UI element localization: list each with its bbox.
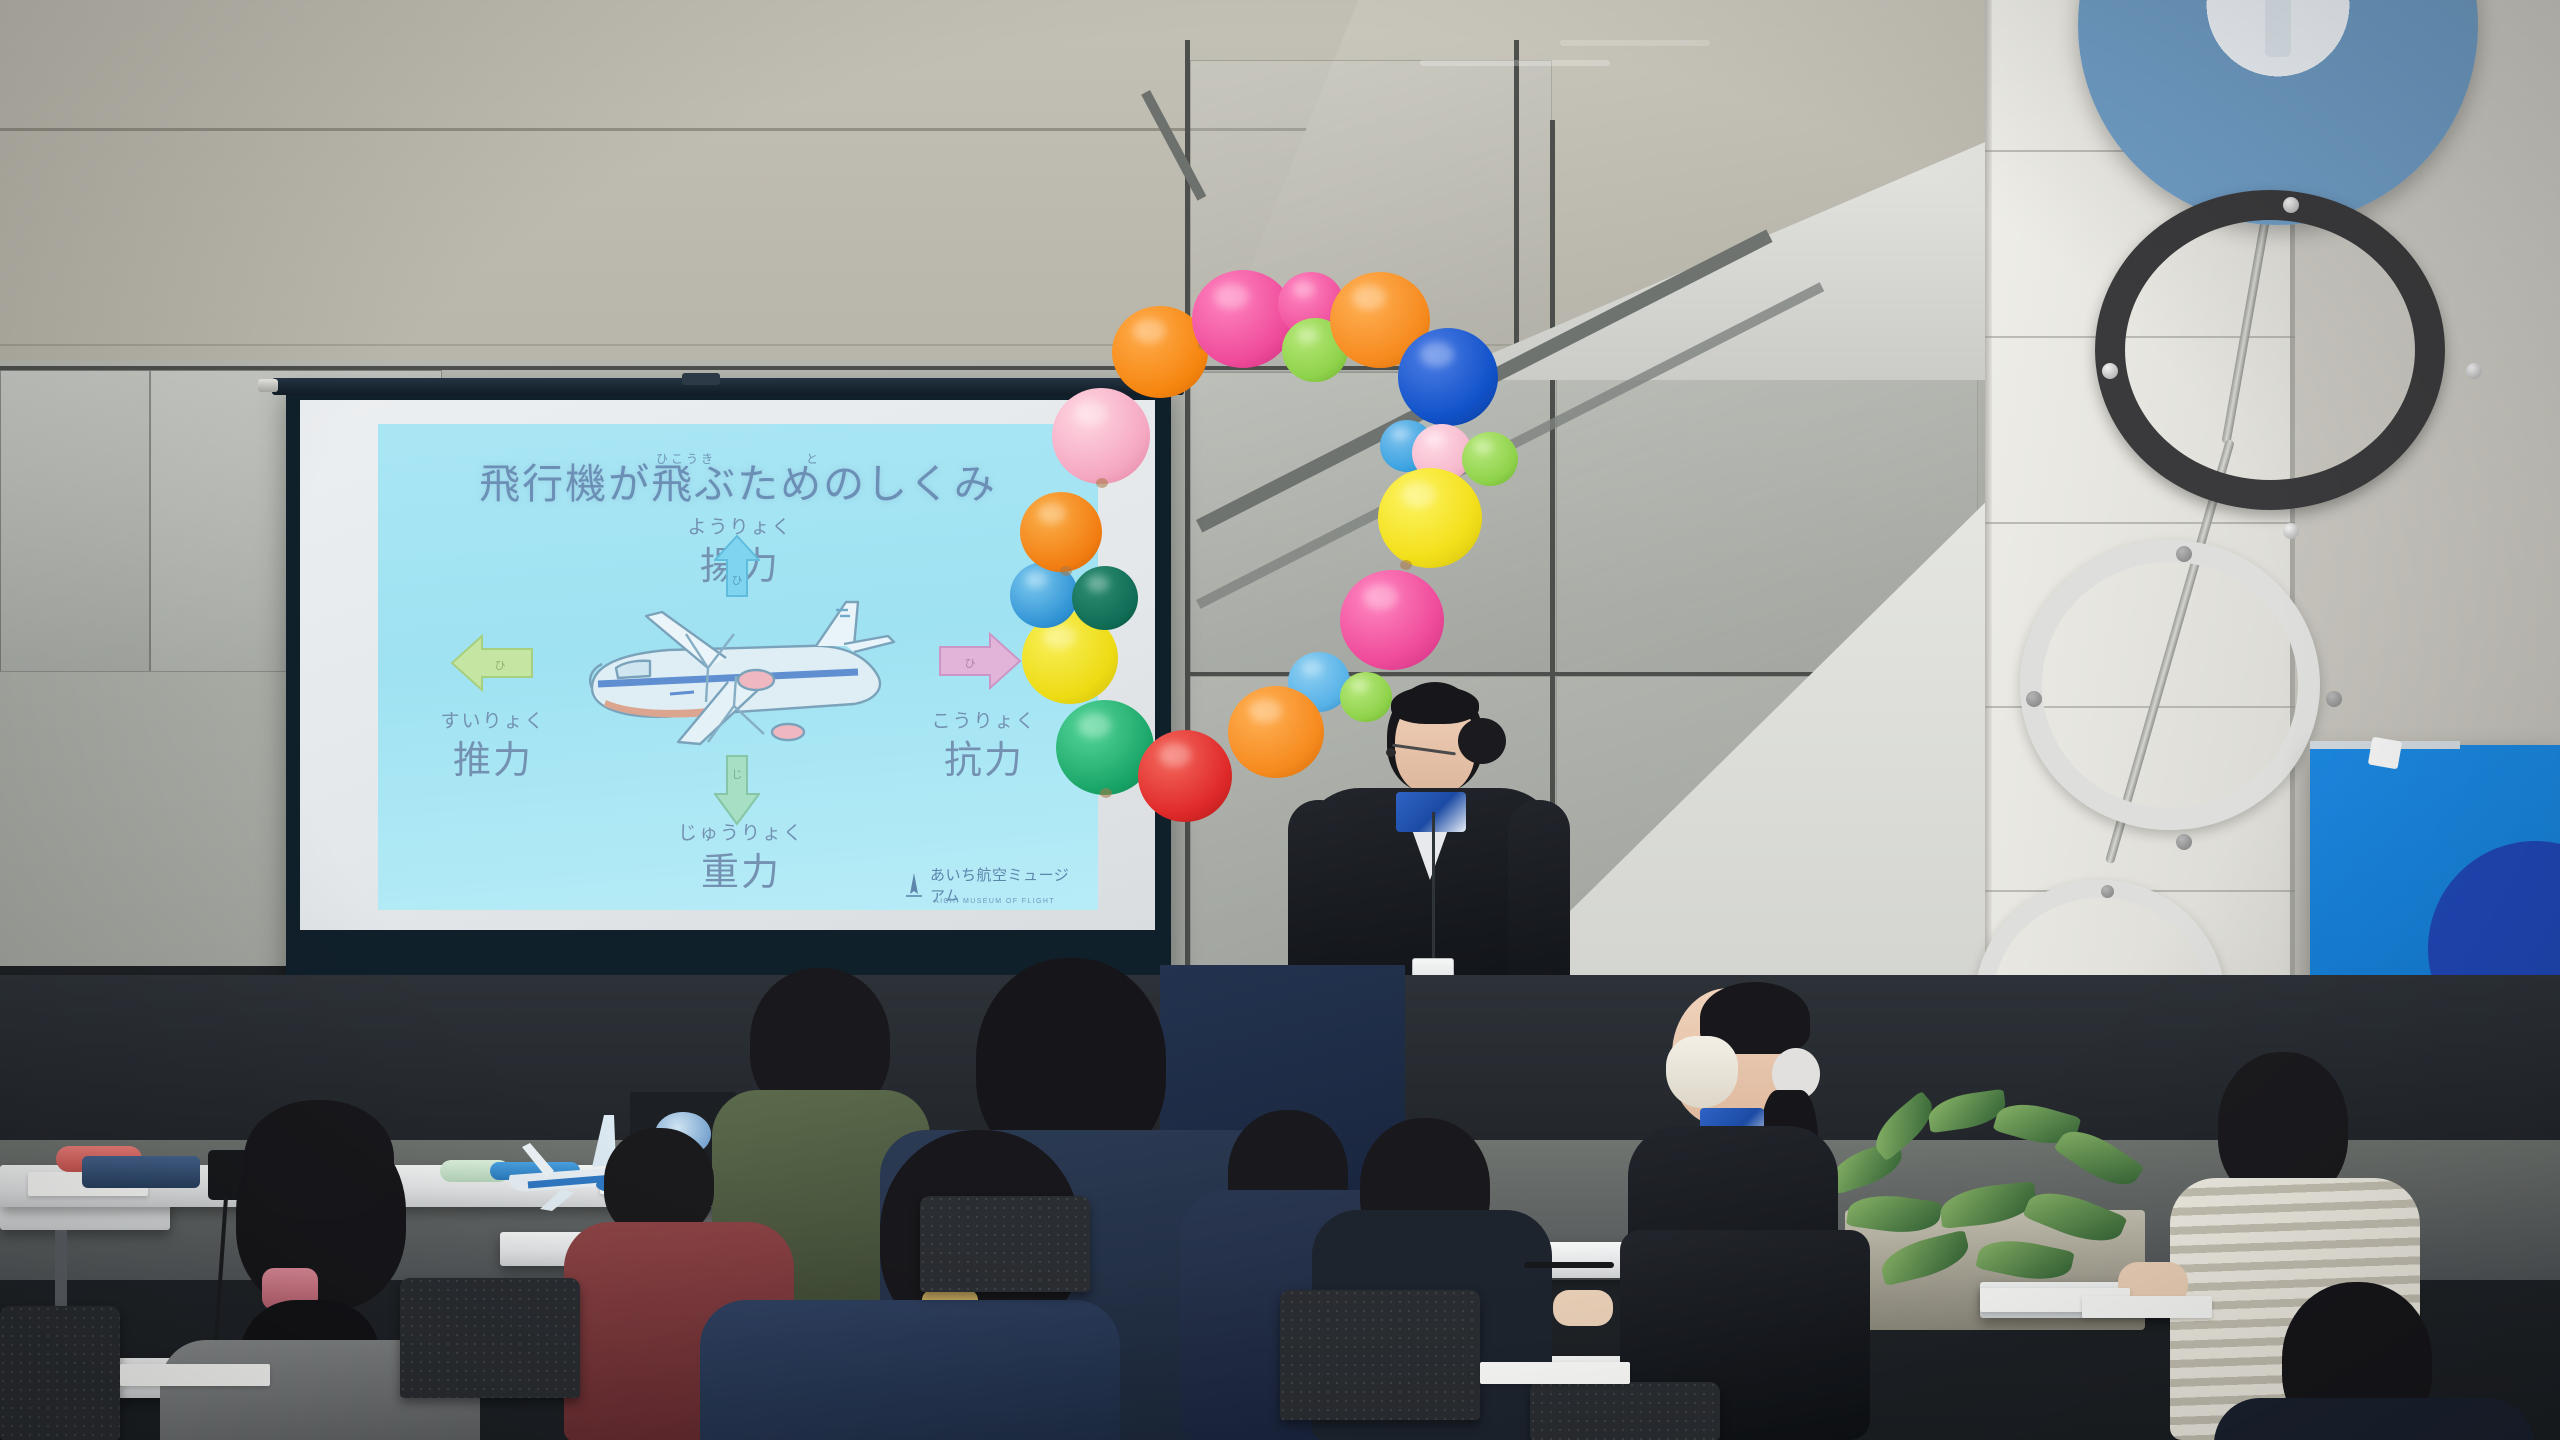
- column-seam: [1985, 522, 2295, 524]
- adult-head: [244, 1100, 394, 1220]
- force-kanji-gravity: 重力: [636, 841, 846, 896]
- child-body: [700, 1300, 1120, 1440]
- adult-body: [2214, 1398, 2534, 1440]
- ring-bolt: [2283, 523, 2299, 539]
- svg-text:ひ: ひ: [965, 658, 976, 670]
- balloon: [1462, 432, 1518, 486]
- balloon: [1378, 468, 1482, 568]
- arrow-right-icon: ひ: [938, 632, 1022, 690]
- balloon-knot: [1400, 560, 1412, 570]
- projected-slide: ひこうき と 飛行機が飛ぶためのしくみ ようりょく 揚力 ひ すいりょく 推力 …: [378, 424, 1098, 910]
- chair: [1280, 1290, 1480, 1420]
- balloon: [1138, 730, 1232, 822]
- slide-logo-subtext: AICHI MUSEUM OF FLIGHT: [934, 898, 1055, 905]
- ring-bolt: [2101, 885, 2114, 898]
- force-label-gravity: じゅうりょく 重力: [636, 818, 846, 896]
- ring-bolt: [2326, 691, 2342, 707]
- balloon: [1398, 328, 1498, 426]
- balloon-knot: [1060, 566, 1072, 576]
- balloon: [1192, 270, 1294, 368]
- dark-porthole-ring: [2095, 190, 2445, 510]
- slide-title: 飛行機が飛ぶためのしくみ: [378, 450, 1098, 510]
- table-leg: [55, 1230, 67, 1316]
- balloon: [1052, 388, 1150, 484]
- ring-bolt: [2026, 691, 2042, 707]
- plant-leaf: [1877, 1230, 1973, 1287]
- ceiling-light: [1420, 60, 1610, 66]
- ring-bolt: [2466, 363, 2482, 379]
- worksheet: [2082, 1296, 2212, 1318]
- svg-text:ひ: ひ: [495, 660, 506, 672]
- ring-bolt: [2283, 197, 2299, 213]
- balloon: [1340, 570, 1444, 670]
- ring-bolt: [2176, 546, 2192, 562]
- balloon-knot: [1100, 788, 1112, 798]
- presenter-fringe: [1391, 686, 1479, 724]
- chair: [1530, 1382, 1720, 1440]
- screen-end-cap: [258, 379, 278, 392]
- plant-leaf: [2022, 1181, 2127, 1253]
- ceiling-light: [1560, 40, 1710, 46]
- board-tape: [2368, 737, 2402, 770]
- ring-bolt: [2102, 363, 2118, 379]
- presenter-neck-scarf: [1396, 792, 1466, 832]
- ring-bolt: [2176, 834, 2192, 850]
- svg-text:じ: じ: [732, 768, 743, 781]
- arrow-left-icon: ひ: [450, 634, 534, 692]
- blue-tray: [82, 1156, 200, 1188]
- balloon: [1228, 686, 1324, 778]
- airplane-illustration: [558, 584, 918, 764]
- presenter-lanyard: [1432, 812, 1435, 962]
- projection-screen-rollbar: [272, 378, 1184, 395]
- chair: [400, 1278, 580, 1398]
- photo-scene: ひこうき と 飛行機が飛ぶためのしくみ ようりょく 揚力 ひ すいりょく 推力 …: [0, 0, 2560, 1440]
- balloon: [1072, 566, 1138, 630]
- pen: [1524, 1262, 1614, 1268]
- chair: [0, 1306, 120, 1440]
- face-mask: [1666, 1036, 1738, 1108]
- slide-museum-logo: あいち航空ミュージアム AICHI MUSEUM OF FLIGHT: [904, 868, 1084, 902]
- window-mullion: [1514, 40, 1519, 370]
- potted-plant: [1820, 1090, 2180, 1290]
- glass-panel: [0, 370, 150, 672]
- disc-hub: [2265, 0, 2291, 57]
- plant-leaf: [1846, 1190, 1942, 1238]
- balloon: [1340, 672, 1392, 722]
- plant-leaf: [1938, 1181, 2037, 1229]
- museum-logo-mark-icon: [904, 872, 924, 898]
- light-porthole-ring: [2020, 540, 2320, 830]
- worksheet: [1480, 1362, 1630, 1384]
- balloon-knot: [1096, 478, 1108, 488]
- arrow-down-icon: じ: [714, 754, 760, 826]
- balloon: [1020, 492, 1102, 572]
- headset-mic-capsule: [1386, 748, 1396, 757]
- plant-leaf: [1975, 1233, 2074, 1288]
- screen-mount-knob: [682, 373, 720, 385]
- staff-hand: [1553, 1290, 1613, 1326]
- worksheet: [120, 1364, 270, 1386]
- chair: [920, 1196, 1090, 1292]
- presenter-hair-bun: [1458, 718, 1506, 764]
